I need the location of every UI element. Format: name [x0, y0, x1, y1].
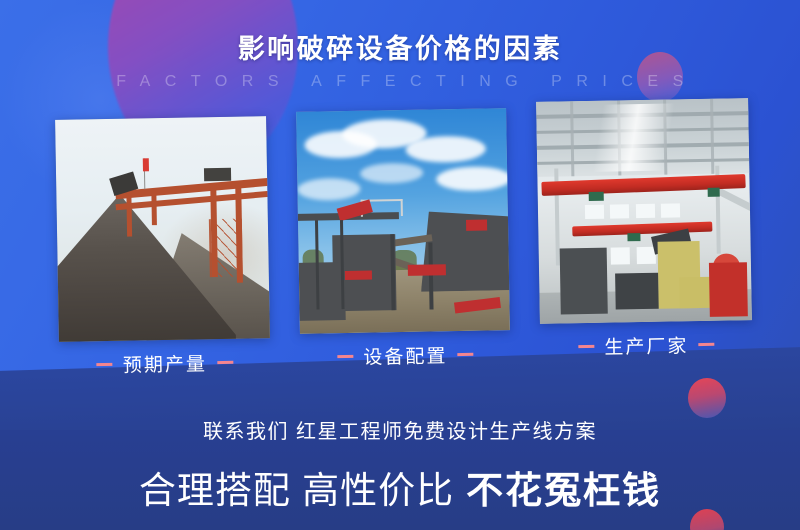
photo-conveyor-stockpile [55, 116, 270, 342]
dash-left-icon [97, 363, 113, 366]
dash-left-icon [337, 355, 353, 358]
header: 影响破碎设备价格的因素 FACTORS AFFECTING PRICES [0, 0, 800, 91]
dash-left-icon [578, 345, 594, 348]
dash-right-icon [217, 361, 233, 364]
cta-line-1: 联系我们 红星工程师免费设计生产线方案 [0, 415, 800, 444]
photo-crushing-plant [296, 108, 510, 334]
photo-factory-workshop [536, 98, 752, 324]
cta-section: 联系我们 红星工程师免费设计生产线方案 合理搭配 高性价比不花冤枉钱 [0, 415, 800, 514]
card-caption-text: 设备配置 [363, 346, 447, 368]
page-subtitle: FACTORS AFFECTING PRICES [0, 66, 800, 91]
card-caption: 预期产量 [59, 348, 270, 379]
dash-right-icon [457, 353, 473, 356]
card-caption-text: 预期产量 [123, 354, 207, 376]
card-caption: 设备配置 [300, 340, 510, 371]
feature-card-expected-output[interactable]: 预期产量 [55, 116, 270, 342]
dash-right-icon [698, 343, 714, 346]
page-title: 影响破碎设备价格的因素 [0, 0, 800, 66]
poster-canvas: 影响破碎设备价格的因素 FACTORS AFFECTING PRICES 预期产… [0, 0, 800, 530]
card-caption: 生产厂家 [540, 330, 752, 361]
feature-card-equipment-configuration[interactable]: 设备配置 [296, 108, 510, 334]
cta-line-2-light: 合理搭配 高性价比 [139, 470, 454, 511]
card-caption-text: 生产厂家 [604, 336, 688, 358]
feature-card-manufacturer[interactable]: 生产厂家 [536, 98, 752, 324]
cta-line-2-strong: 不花冤枉钱 [466, 470, 661, 511]
cta-line-2: 合理搭配 高性价比不花冤枉钱 [0, 444, 800, 514]
